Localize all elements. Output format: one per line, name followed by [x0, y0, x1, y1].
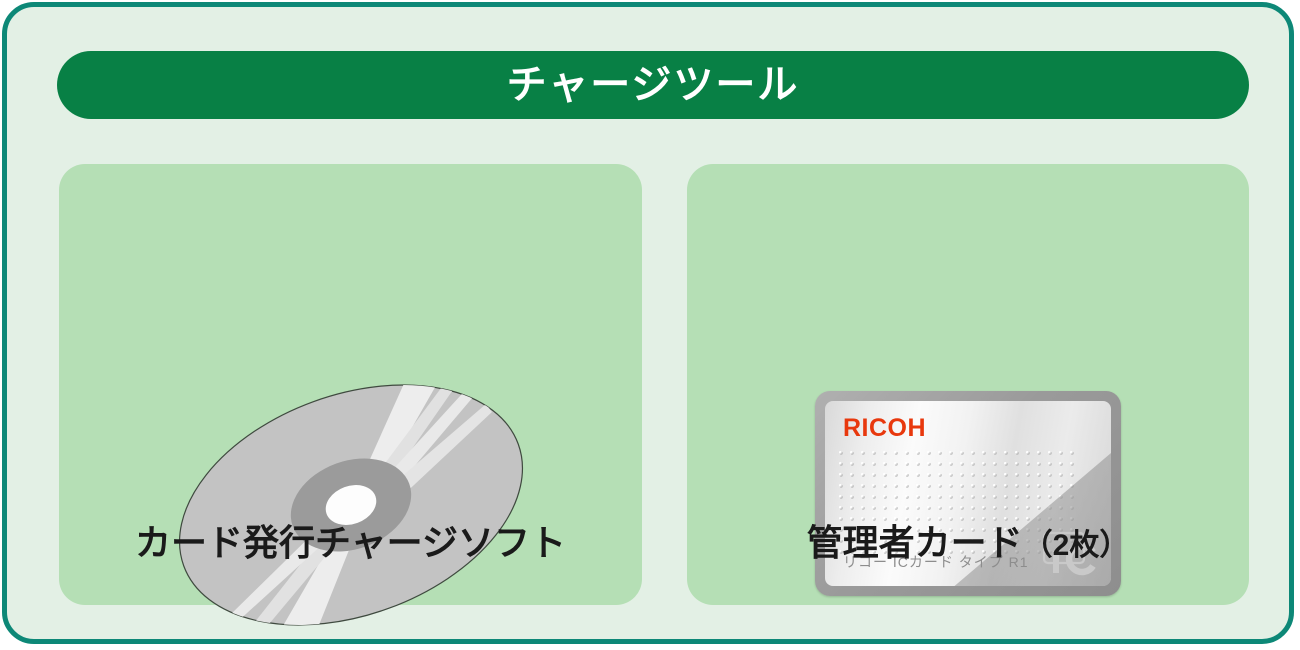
panel-caption-charge-software: カード発行チャージソフト: [59, 525, 642, 561]
ic-card-body: RICOH リコー ICカード タイプ R1: [815, 391, 1121, 596]
panel-caption-admin-card-sub: （2枚）: [1023, 529, 1130, 562]
cd-disc-icon: [161, 360, 541, 650]
ricoh-logo: RICOH: [843, 416, 926, 441]
ic-card-icon: RICOH リコー ICカード タイプ R1: [815, 391, 1121, 596]
title-banner: チャージツール: [57, 51, 1249, 119]
panel-admin-card: RICOH リコー ICカード タイプ R1 管理者カード（2枚）: [687, 164, 1249, 605]
panel-charge-software: カード発行チャージソフト: [59, 164, 642, 605]
figure-frame: チャージツール: [2, 2, 1294, 644]
panel-caption-admin-card-main: 管理者カード: [807, 522, 1023, 563]
page-title: チャージツール: [507, 65, 800, 105]
panel-caption-admin-card: 管理者カード（2枚）: [687, 525, 1249, 561]
cd-disc-graphic: [161, 360, 541, 650]
